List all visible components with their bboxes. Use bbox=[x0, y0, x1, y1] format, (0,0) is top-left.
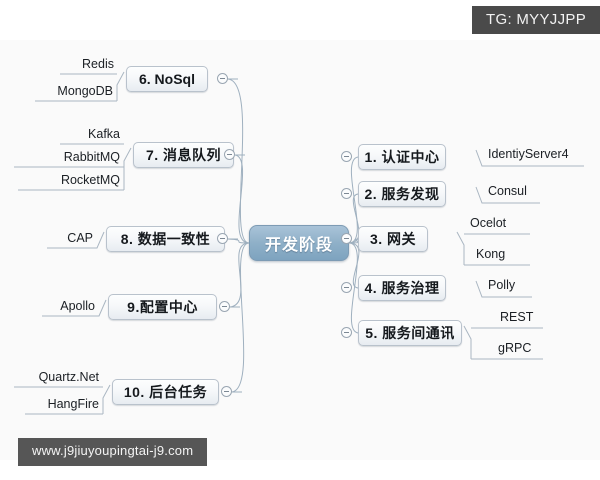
toggle-message-queue[interactable] bbox=[224, 149, 235, 160]
telegram-watermark: TG: MYYJJPP bbox=[472, 6, 600, 34]
leaf-rocketmq: RocketMQ bbox=[20, 174, 120, 187]
leaf-redis: Redis bbox=[62, 58, 114, 71]
leaf-quartznet: Quartz.Net bbox=[16, 371, 99, 384]
leaf-hangfire: HangFire bbox=[27, 398, 99, 411]
leaf-ocelot: Ocelot bbox=[470, 217, 506, 230]
node-gateway[interactable]: 3. 网关 bbox=[358, 226, 428, 252]
node-background-tasks-label: 10. 后台任务 bbox=[124, 385, 207, 399]
toggle-service-governance[interactable] bbox=[341, 282, 352, 293]
root-node-label: 开发阶段 bbox=[265, 231, 333, 255]
toggle-data-consistency[interactable] bbox=[217, 233, 228, 244]
leaf-rest: REST bbox=[500, 311, 533, 324]
leaf-cap: CAP bbox=[49, 232, 93, 245]
node-service-communication[interactable]: 5. 服务间通讯 bbox=[358, 320, 462, 346]
toggle-config-center[interactable] bbox=[219, 301, 230, 312]
node-service-governance-label: 4. 服务治理 bbox=[364, 281, 439, 295]
leaf-identityserver4: IdentiyServer4 bbox=[488, 148, 569, 161]
node-gateway-label: 3. 网关 bbox=[370, 232, 416, 246]
leaf-kafka: Kafka bbox=[62, 128, 120, 141]
node-background-tasks[interactable]: 10. 后台任务 bbox=[112, 379, 219, 405]
mindmap-screenshot: 开发阶段 1. 认证中心 2. 服务发现 3. 网关 4. 服务治理 5. 服务… bbox=[0, 0, 600, 480]
leaf-polly: Polly bbox=[488, 279, 515, 292]
leaf-grpc: gRPC bbox=[498, 342, 531, 355]
leaf-consul: Consul bbox=[488, 185, 527, 198]
leaf-mongodb: MongoDB bbox=[33, 85, 113, 98]
node-message-queue-label: 7. 消息队列 bbox=[146, 148, 221, 162]
node-config-center[interactable]: 9.配置中心 bbox=[108, 294, 217, 320]
toggle-service-discovery[interactable] bbox=[341, 188, 352, 199]
toggle-auth-center[interactable] bbox=[341, 151, 352, 162]
root-node[interactable]: 开发阶段 bbox=[249, 225, 349, 261]
node-data-consistency[interactable]: 8. 数据一致性 bbox=[106, 226, 225, 252]
node-config-center-label: 9.配置中心 bbox=[127, 300, 198, 314]
leaf-kong: Kong bbox=[476, 248, 505, 261]
node-service-governance[interactable]: 4. 服务治理 bbox=[358, 275, 446, 301]
toggle-background-tasks[interactable] bbox=[221, 386, 232, 397]
node-service-communication-label: 5. 服务间通讯 bbox=[365, 326, 455, 340]
site-watermark: www.j9jiuyoupingtai-j9.com bbox=[18, 438, 207, 466]
toggle-service-communication[interactable] bbox=[341, 327, 352, 338]
leaf-apollo: Apollo bbox=[44, 300, 95, 313]
node-auth-center-label: 1. 认证中心 bbox=[364, 150, 439, 164]
node-service-discovery[interactable]: 2. 服务发现 bbox=[358, 181, 446, 207]
node-nosql[interactable]: 6. NoSql bbox=[126, 66, 208, 92]
toggle-gateway[interactable] bbox=[341, 233, 352, 244]
node-service-discovery-label: 2. 服务发现 bbox=[364, 187, 439, 201]
leaf-rabbitmq: RabbitMQ bbox=[16, 151, 120, 164]
node-data-consistency-label: 8. 数据一致性 bbox=[121, 232, 211, 246]
toggle-nosql[interactable] bbox=[217, 73, 228, 84]
node-auth-center[interactable]: 1. 认证中心 bbox=[358, 144, 446, 170]
node-message-queue[interactable]: 7. 消息队列 bbox=[133, 142, 234, 168]
node-nosql-label: 6. NoSql bbox=[139, 72, 195, 86]
